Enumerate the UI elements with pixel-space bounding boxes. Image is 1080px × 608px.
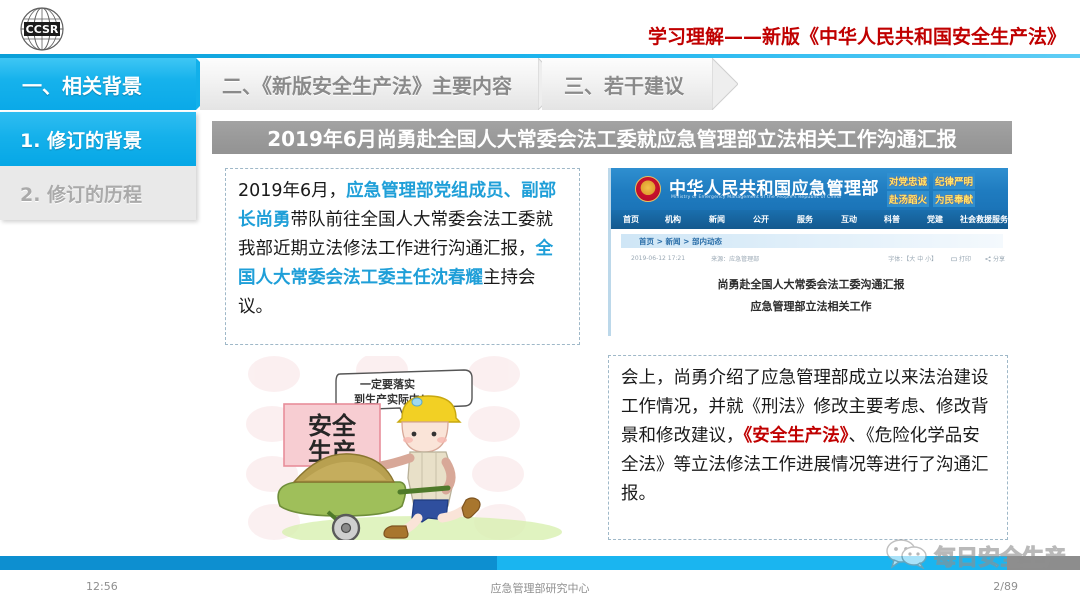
- gov-article-title-line2: 应急管理部立法相关工作: [611, 298, 1008, 314]
- gov-nav-item-6[interactable]: 科普: [871, 214, 913, 225]
- share-label: 分享: [993, 256, 1005, 263]
- gov-site-name-en: Ministry of Emergency Management of the …: [671, 195, 841, 200]
- print-button[interactable]: 打印: [951, 254, 971, 263]
- section-sidebar: 1. 修订的背景 2. 修订的历程: [0, 112, 196, 220]
- left-seg-0: 2019年6月，: [238, 181, 346, 201]
- slide-title-text: 2019年6月尚勇赴全国人大常委会法工委就应急管理部立法相关工作沟通汇报: [267, 123, 957, 152]
- gov-article-title-line1: 尚勇赴全国人大常委会法工委沟通汇报: [611, 276, 1008, 292]
- slogan-chunk-1: 对党忠诚: [887, 173, 929, 189]
- page-title: 学习理解——新版《中华人民共和国安全生产法》: [648, 22, 1066, 49]
- gov-nav-item-3[interactable]: 公开: [739, 214, 783, 225]
- gov-nav-item-4[interactable]: 服务: [783, 214, 827, 225]
- slogan-chunk-3: 赴汤蹈火: [887, 191, 929, 207]
- logo-text: CCSR: [26, 23, 59, 36]
- tab-chapter-3[interactable]: 三、若干建议: [542, 58, 712, 110]
- print-label: 打印: [959, 256, 971, 263]
- gov-site-header: 中华人民共和国应急管理部 Ministry of Emergency Manag…: [611, 168, 1008, 210]
- sidebar-item-label: 2. 修订的历程: [20, 180, 142, 207]
- right-paragraph-box: 会上，尚勇介绍了应急管理部成立以来法治建设工作情况，并就《刑法》修改主要考虑、修…: [608, 355, 1008, 540]
- tab-chapter-2[interactable]: 二、《新版安全生产法》主要内容: [200, 58, 538, 110]
- gov-nav-item-8[interactable]: 社会救援服务: [957, 214, 1008, 225]
- font-size-control[interactable]: 字体：【大 中 小】: [888, 254, 937, 263]
- share-button[interactable]: 分享: [985, 254, 1005, 263]
- progress-segment-3: [1007, 556, 1080, 570]
- safety-production-cartoon: 一定要落实 到生产实际中！ 安全 生产: [232, 356, 580, 540]
- chevron-right-icon: [712, 58, 738, 110]
- gov-slogan-block: 对党忠诚 纪律严明 赴汤蹈火 为民奉献: [887, 173, 1003, 205]
- progress-bar: [0, 556, 1080, 570]
- tab-chapter-1-label: 一、相关背景: [22, 70, 142, 99]
- tab-chapter-2-label: 二、《新版安全生产法》主要内容: [222, 70, 512, 99]
- gov-website-screenshot: 中华人民共和国应急管理部 Ministry of Emergency Manag…: [608, 168, 1008, 336]
- gov-article-source: 来源：应急管理部: [711, 254, 759, 263]
- sidebar-item-revision-history[interactable]: 2. 修订的历程: [0, 166, 196, 220]
- footer-organization: 应急管理部研究中心: [0, 580, 1080, 596]
- progress-segment-2: [497, 556, 1007, 570]
- progress-segment-1: [0, 556, 497, 570]
- bubble-line-1: 一定要落实: [360, 377, 415, 391]
- sidebar-item-revision-background[interactable]: 1. 修订的背景: [0, 112, 196, 166]
- gov-breadcrumb: 首页 > 新闻 > 部内动态: [621, 234, 1003, 248]
- gov-article-meta: 2019-06-12 17:21 来源：应急管理部 字体：【大 中 小】 打印 …: [623, 252, 1005, 264]
- gov-nav-item-7[interactable]: 党建: [913, 214, 957, 225]
- gov-article-date: 2019-06-12 17:21: [631, 255, 685, 262]
- chapter-tabbar: 一、相关背景 二、《新版安全生产法》主要内容 三、若干建议: [0, 58, 1080, 110]
- gov-site-nav: 首页 机构 新闻 公开 服务 互动 科普 党建 社会救援服务: [611, 210, 1008, 229]
- page-header: CCSR 学习理解——新版《中华人民共和国安全生产法》: [0, 0, 1080, 56]
- slide-title-bar: 2019年6月尚勇赴全国人大常委会法工委就应急管理部立法相关工作沟通汇报: [212, 121, 1012, 154]
- sidebar-item-label: 1. 修订的背景: [20, 126, 142, 153]
- ccsr-globe-logo: CCSR: [14, 6, 70, 52]
- gov-article-tools: 字体：【大 中 小】 打印 分享: [888, 254, 1005, 263]
- sign-line-1: 安全: [308, 412, 357, 440]
- slogan-chunk-4: 为民奉献: [933, 191, 975, 207]
- national-emblem-icon: [635, 176, 661, 202]
- footer-page-number: 2/89: [993, 580, 1018, 593]
- gov-nav-item-0[interactable]: 首页: [611, 214, 651, 225]
- tab-chapter-1[interactable]: 一、相关背景: [0, 58, 196, 110]
- slogan-chunk-2: 纪律严明: [933, 173, 975, 189]
- left-paragraph-box: 2019年6月，应急管理部党组成员、副部长尚勇带队前往全国人大常委会法工委就我部…: [225, 168, 580, 345]
- slogan-line-1: 对党忠诚 纪律严明: [887, 173, 1003, 189]
- gov-nav-item-2[interactable]: 新闻: [695, 214, 739, 225]
- gov-nav-item-5[interactable]: 互动: [827, 214, 871, 225]
- gov-nav-item-1[interactable]: 机构: [651, 214, 695, 225]
- slogan-line-2: 赴汤蹈火 为民奉献: [887, 191, 1003, 207]
- right-seg-1-highlight: 《安全生产法》: [744, 426, 849, 446]
- tab-chapter-3-label: 三、若干建议: [564, 70, 684, 99]
